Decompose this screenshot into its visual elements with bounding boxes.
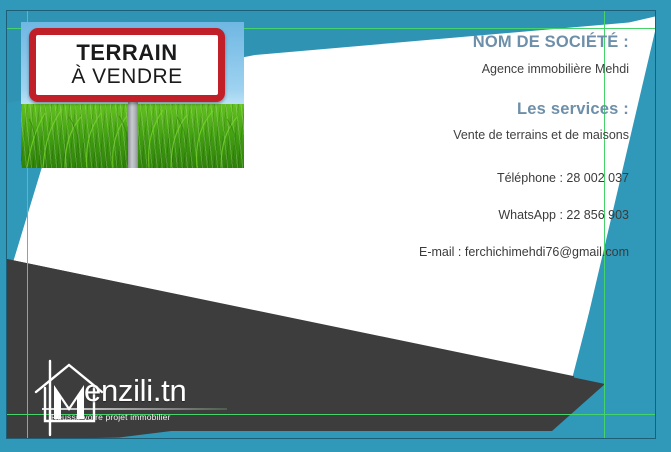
watermark-tagline: Réussir votre projet immobilier bbox=[51, 412, 170, 422]
watermark-brand: enzili.tn bbox=[84, 375, 186, 406]
slide-frame: TERRAIN À VENDRE NOM DE SOCIÉTÉ : Agence… bbox=[6, 10, 656, 439]
sign-text-terrain: TERRAIN bbox=[71, 41, 182, 64]
company-info-block: NOM DE SOCIÉTÉ : Agence immobilière Mehd… bbox=[289, 33, 629, 261]
services-heading: Les services : bbox=[289, 100, 629, 120]
company-heading: NOM DE SOCIÉTÉ : bbox=[289, 33, 629, 53]
whatsapp-line: WhatsApp : 22 856 903 bbox=[289, 208, 629, 224]
phone-line: Téléphone : 28 002 037 bbox=[289, 171, 629, 187]
email-line: E-mail : ferchichimehdi76@gmail.com bbox=[289, 245, 629, 261]
watermark-rule bbox=[42, 408, 227, 410]
terrain-a-vendre-photo: TERRAIN À VENDRE bbox=[21, 22, 244, 168]
sign-inner-border: TERRAIN À VENDRE bbox=[64, 39, 189, 90]
company-name: Agence immobilière Mehdi bbox=[289, 62, 629, 78]
services-text: Vente de terrains et de maisons bbox=[289, 128, 629, 144]
for-sale-sign: TERRAIN À VENDRE bbox=[29, 28, 225, 102]
menzili-watermark: enzili.tn Réussir votre projet immobilie… bbox=[28, 355, 243, 437]
sign-text-a-vendre: À VENDRE bbox=[71, 65, 182, 88]
slide-canvas: TERRAIN À VENDRE NOM DE SOCIÉTÉ : Agence… bbox=[0, 0, 671, 452]
